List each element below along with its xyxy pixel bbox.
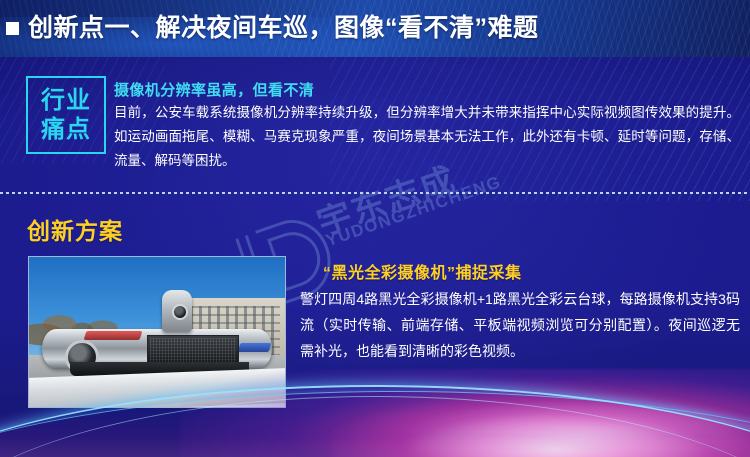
page-title: 创新点一、解决夜间车巡，图像“看不清”难题: [28, 12, 539, 44]
square-bullet-icon: [6, 22, 19, 35]
industry-pain-point-badge: 行业 痛点: [26, 76, 106, 154]
pain-badge-line-1: 行业: [41, 86, 91, 115]
section-divider: [0, 192, 750, 194]
pain-point-heading: 摄像机分辨率虽高，但看不清: [114, 79, 314, 100]
innovation-section-heading: 创新方案: [27, 212, 123, 246]
bottom-decoration: [0, 347, 750, 457]
solution-heading: “黑光全彩摄像机”捕捉采集: [323, 259, 522, 283]
pain-badge-line-2: 痛点: [41, 115, 91, 144]
pain-point-body-text: 目前，公安车载系统摄像机分辨率持续升级，但分辨率增大并未带来指挥中心实际视频图传…: [114, 101, 740, 173]
header-bar: 创新点一、解决夜间车巡，图像“看不清”难题: [0, 0, 750, 57]
photo-red-lamp: [84, 331, 143, 340]
photo-ptz-lens: [172, 304, 188, 320]
slide-canvas: 创新点一、解决夜间车巡，图像“看不清”难题 宇东志成 YUDONGZHICHEN…: [0, 0, 750, 457]
